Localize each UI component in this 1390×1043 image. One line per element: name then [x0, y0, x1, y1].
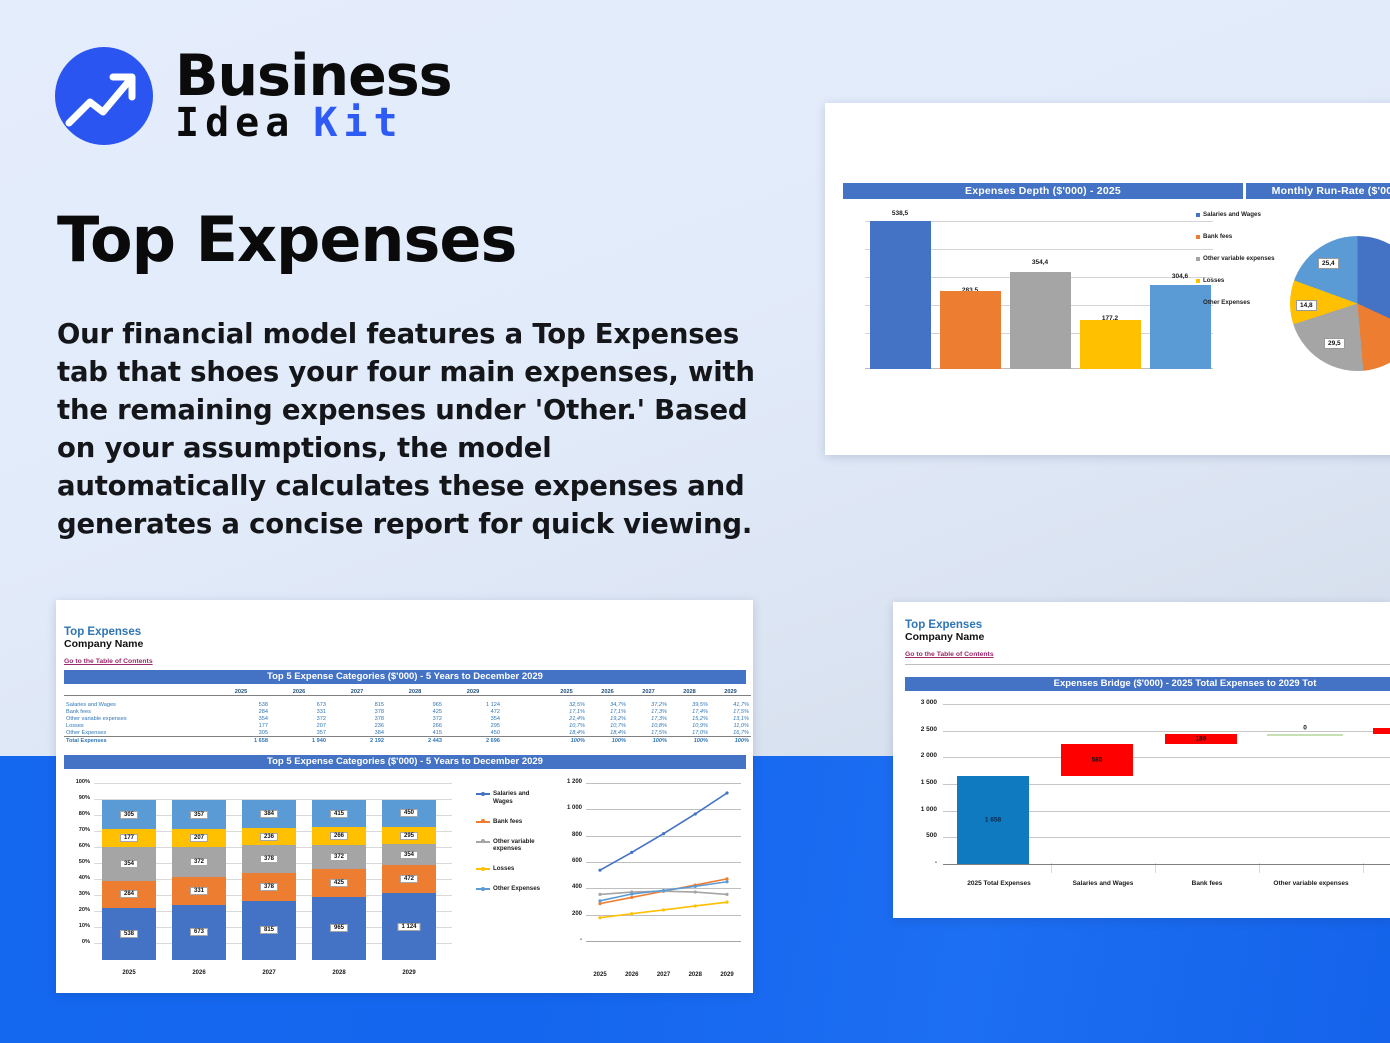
expenses-depth-bar-chart: 538,5 283,5 354,4 177,2 304,6 — [843, 203, 1213, 383]
stack-segment: 295 — [382, 827, 436, 845]
stack-segment: 357 — [172, 800, 226, 829]
gridline — [943, 757, 1390, 758]
stack-segment: 305 — [102, 800, 156, 829]
table-cell-pct: 17,1% — [587, 708, 628, 715]
segment-value-label: 378 — [260, 855, 278, 863]
x-axis-label: 2028 — [680, 972, 710, 978]
segment-value-label: 305 — [120, 811, 138, 819]
page-description: Our financial model features a Top Expen… — [57, 315, 757, 543]
bar-value-label: 585 — [1092, 756, 1103, 763]
legend-item: .llg:nth-child(3) .llg-line::after{backg… — [476, 838, 546, 853]
legend-swatch-icon — [1196, 235, 1200, 239]
table-cell-value: 177 — [212, 722, 270, 729]
expenses-depth-panel: Expenses Depth ($'000) - 2025 Monthly Ru… — [825, 103, 1390, 455]
bar-other-variable-expenses — [1010, 272, 1071, 369]
stack-segment: 177 — [102, 829, 156, 846]
stack-segment: 472 — [382, 865, 436, 893]
stack-segment: 384 — [242, 800, 296, 828]
column-header-year: 2026 — [270, 688, 328, 696]
table-cell-total-pct: 100% — [628, 736, 669, 744]
table-cell-pct: 39,5% — [669, 701, 710, 708]
legend-swatch-icon — [1196, 279, 1200, 283]
table-cell-pct: 18,4% — [587, 729, 628, 736]
pie-value-label: 14,8 — [1296, 300, 1317, 311]
stacked-bar-column: 305177354284538 — [102, 800, 156, 960]
bar-salaries-and-wages — [870, 221, 931, 369]
segment-value-label: 472 — [400, 875, 418, 883]
stack-segment: 284 — [102, 881, 156, 908]
legend-item: .llg:nth-child(2) .llg-line::after{backg… — [476, 818, 546, 826]
table-cell-pct: 19,2% — [587, 715, 628, 722]
table-cell-total: 2 696 — [444, 736, 502, 744]
legend-label: Other Expenses — [1203, 299, 1250, 307]
table-cell-value: 295 — [444, 722, 502, 729]
table-cell-value: 236 — [328, 722, 386, 729]
legend-item: Other Expenses — [1196, 299, 1276, 307]
table-cell-total: 1 940 — [270, 736, 328, 744]
expenses-line-chart: -2004006008001 0001 200 2025202620272028… — [556, 775, 746, 980]
column-header-year-pct: 2029 — [710, 688, 751, 696]
stack-segment: 415 — [312, 800, 366, 827]
segment-value-label: 378 — [260, 883, 278, 891]
stacked-bar-chart: 0%10%20%30%40%50%60%70%80%90%100% 305177… — [66, 775, 471, 980]
legend-label: Other variable expenses — [493, 838, 546, 853]
stack-segment: 354 — [102, 847, 156, 881]
x-axis-label: 2029 — [712, 972, 742, 978]
legend-item: Bank fees — [1196, 233, 1276, 241]
y-axis-tick: 80% — [66, 811, 90, 817]
stack-segment: 331 — [172, 877, 226, 904]
bar-value-label: 189 — [1196, 736, 1207, 743]
expense-categories-table: 2025 2026 2027 2028 2029 2025 2026 2027 … — [64, 688, 746, 744]
stack-segment: 236 — [242, 828, 296, 845]
legend-label: Other Expenses — [493, 885, 540, 893]
chart-title-bar: Top 5 Expense Categories ($'000) - 5 Yea… — [64, 755, 746, 769]
sheet-title: Top Expenses — [64, 626, 153, 638]
x-axis-label: Bank fees — [1155, 880, 1259, 887]
table-cell-value: 354 — [444, 715, 502, 722]
expenses-bridge-panel: Top Expenses Company Name Go to the Tabl… — [893, 602, 1390, 918]
x-axis-label: Losses — [1363, 880, 1390, 887]
y-axis-tick: 60% — [66, 843, 90, 849]
table-cell-total: 2 443 — [386, 736, 444, 744]
segment-value-label: 354 — [400, 851, 418, 859]
table-cell-pct: 34,7% — [587, 701, 628, 708]
table-cell-value: 384 — [328, 729, 386, 736]
table-cell-value: 284 — [212, 708, 270, 715]
stack-segment: 1 124 — [382, 893, 436, 960]
stack-segment: 354 — [382, 844, 436, 865]
gridline — [943, 704, 1390, 705]
table-cell-pct: 17,4% — [669, 708, 710, 715]
waterfall-bar: 1 658 — [957, 776, 1029, 864]
table-cell-value: 965 — [386, 701, 444, 708]
column-header-year: 2028 — [386, 688, 444, 696]
table-cell-pct: 21,4% — [546, 715, 587, 722]
table-cell-pct: 18,4% — [546, 729, 587, 736]
brand-name-primary: Business — [175, 48, 452, 104]
table-cell-pct: 11,0% — [710, 722, 751, 729]
table-cell-pct: 17,0% — [669, 729, 710, 736]
table-cell-total-pct: 100% — [669, 736, 710, 744]
legend-item: Salaries and Wages — [1196, 211, 1276, 219]
table-cell-pct: 13,1% — [710, 715, 751, 722]
y-axis-tick: 100% — [66, 779, 90, 785]
y-axis-tick: 2 500 — [901, 726, 937, 733]
table-cell-pct: 10,7% — [546, 722, 587, 729]
table-cell-pct: 37,2% — [628, 701, 669, 708]
legend-item: .llg:nth-child(5) .llg-line::after{backg… — [476, 885, 546, 893]
bridge-title-bar: Expenses Bridge ($'000) - 2025 Total Exp… — [905, 677, 1390, 691]
table-cell-value: 331 — [270, 708, 328, 715]
legend-label: Other variable expenses — [1203, 255, 1275, 263]
x-axis-label: 2028 — [312, 970, 366, 976]
table-cell-value: 538 — [212, 701, 270, 708]
column-header-year-pct: 2028 — [669, 688, 710, 696]
column-header-year: 2027 — [328, 688, 386, 696]
table-cell-value: 450 — [444, 729, 502, 736]
legend-item: Losses — [1196, 277, 1276, 285]
waterfall-bar: 585 — [1061, 744, 1133, 775]
segment-value-label: 384 — [260, 810, 278, 818]
table-cell-value: 472 — [444, 708, 502, 715]
sheet-title: Top Expenses — [905, 619, 994, 631]
table-cell-value: 415 — [386, 729, 444, 736]
page-title: Top Expenses — [57, 205, 516, 275]
monthly-run-rate-title: Monthly Run-Rate ($'000 — [1246, 183, 1390, 199]
x-axis-label: 2026 — [617, 972, 647, 978]
trending-up-arrow-icon — [55, 47, 153, 145]
stack-segment: 673 — [172, 905, 226, 961]
table-cell-pct: 32,5% — [546, 701, 587, 708]
table-cell-value: 207 — [270, 722, 328, 729]
bar-losses — [1080, 320, 1141, 369]
bar-bank-fees — [940, 291, 1001, 369]
table-row: Salaries and Wages5386738159651 12432,5%… — [64, 701, 746, 708]
segment-value-label: 415 — [330, 810, 348, 818]
stacked-bar-column: 357207372331673 — [172, 800, 226, 960]
table-row: Bank fees28433137842547217,1%17,1%17,3%1… — [64, 708, 746, 715]
bar-value-label: 538,5 — [865, 210, 935, 217]
brand-logo: Business Idea Kit — [55, 47, 452, 145]
stacked-bar-column: 4502953544721 124 — [382, 800, 436, 960]
segment-value-label: 236 — [260, 833, 278, 841]
table-cell-total: 1 658 — [212, 736, 270, 744]
table-cell-value: 354 — [212, 715, 270, 722]
table-cell-value: 372 — [386, 715, 444, 722]
legend-line-icon: .llg:nth-child(1) .llg-line::after{backg… — [476, 793, 490, 795]
expenses-depth-title: Expenses Depth ($'000) - 2025 — [843, 183, 1243, 199]
segment-value-label: 177 — [120, 834, 138, 842]
table-cell-pct: 17,1% — [546, 708, 587, 715]
table-cell-value: 266 — [386, 722, 444, 729]
legend-line-icon: .llg:nth-child(4) .llg-line::after{backg… — [476, 868, 490, 870]
y-axis-tick: 30% — [66, 891, 90, 897]
table-header-row: 2025 2026 2027 2028 2029 2025 2026 2027 … — [64, 688, 746, 696]
waterfall-bar: 1 — [1373, 728, 1390, 734]
table-cell-value: 378 — [328, 715, 386, 722]
table-cell-value: 425 — [386, 708, 444, 715]
segment-value-label: 207 — [190, 834, 208, 842]
table-cell-value: 372 — [270, 715, 328, 722]
table-cell-total-pct: 100% — [587, 736, 628, 744]
pie-value-label: 25,4 — [1318, 258, 1339, 269]
table-total-row: Total Expenses1 6581 9402 1922 4432 6961… — [64, 736, 746, 744]
table-cell-total: 2 192 — [328, 736, 386, 744]
expenses-bridge-waterfall-chart: -5001 0001 5002 0002 5003 0001 6582025 T… — [901, 698, 1390, 903]
stacked-bar-column: 384236378378815 — [242, 800, 296, 960]
segment-value-label: 354 — [120, 860, 138, 868]
table-cell-pct: 16,7% — [710, 729, 751, 736]
segment-value-label: 284 — [120, 890, 138, 898]
table-cell-pct: 15,2% — [669, 715, 710, 722]
y-axis-tick: 20% — [66, 907, 90, 913]
table-row: Other Expenses30535738441545018,4%18,4%1… — [64, 729, 746, 736]
row-label: Total Expenses — [64, 736, 212, 744]
row-label: Other variable expenses — [64, 715, 212, 722]
x-axis-label: 2026 — [172, 970, 226, 976]
waterfall-bar: 0 — [1267, 734, 1343, 736]
segment-value-label: 331 — [190, 887, 208, 895]
segment-value-label: 372 — [190, 858, 208, 866]
segment-value-label: 965 — [330, 924, 348, 932]
y-axis-tick: 70% — [66, 827, 90, 833]
table-cell-pct: 10,7% — [587, 722, 628, 729]
row-label: Bank fees — [64, 708, 212, 715]
table-cell-value: 1 124 — [444, 701, 502, 708]
bar-value-label: 354,4 — [1005, 259, 1075, 266]
y-axis-tick: 3 000 — [901, 699, 937, 706]
table-cell-value: 815 — [328, 701, 386, 708]
table-cell-pct: 17,3% — [628, 708, 669, 715]
legend-label: Salaries and Wages — [1203, 211, 1261, 219]
table-cell-value: 357 — [270, 729, 328, 736]
table-cell-total-pct: 100% — [546, 736, 587, 744]
table-cell-pct: 10,8% — [628, 722, 669, 729]
table-cell-pct: 10,9% — [669, 722, 710, 729]
table-row: Other variable expenses35437237837235421… — [64, 715, 746, 722]
table-cell-value: 673 — [270, 701, 328, 708]
segment-value-label: 295 — [400, 832, 418, 840]
stack-segment: 538 — [102, 908, 156, 960]
column-header-year: 2029 — [444, 688, 502, 696]
segment-value-label: 372 — [330, 853, 348, 861]
legend-label: Salaries and Wages — [493, 790, 546, 805]
legend-swatch-icon — [1196, 257, 1200, 261]
row-label: Salaries and Wages — [64, 701, 212, 708]
segment-value-label: 673 — [190, 928, 208, 936]
x-axis-label: 2027 — [649, 972, 679, 978]
x-axis-label: 2027 — [242, 970, 296, 976]
table-row: Losses17720723626629510,7%10,7%10,8%10,9… — [64, 722, 746, 729]
stack-segment: 372 — [172, 847, 226, 878]
legend-line-icon: .llg:nth-child(2) .llg-line::after{backg… — [476, 821, 490, 823]
company-name: Company Name — [905, 631, 994, 643]
divider — [905, 664, 1390, 665]
table-cell-pct: 17,5% — [710, 708, 751, 715]
waterfall-bar: 189 — [1165, 734, 1237, 744]
legend-item: .llg:nth-child(4) .llg-line::after{backg… — [476, 865, 546, 873]
pie-value-label: 29,5 — [1324, 338, 1345, 349]
gridline — [94, 783, 452, 784]
y-axis-tick: 50% — [66, 859, 90, 865]
sheet-header: Top Expenses Company Name Go to the Tabl… — [64, 626, 153, 668]
y-axis-tick: 40% — [66, 875, 90, 881]
y-axis-tick: - — [901, 859, 937, 866]
column-header-year-pct: 2025 — [546, 688, 587, 696]
y-axis-tick: 90% — [66, 795, 90, 801]
stack-segment: 372 — [312, 845, 366, 869]
axis-line — [943, 864, 1390, 865]
segment-value-label: 450 — [400, 809, 418, 817]
x-axis-label: Salaries and Wages — [1051, 880, 1155, 887]
stack-segment: 425 — [312, 869, 366, 897]
column-header-year: 2025 — [212, 688, 270, 696]
row-label: Other Expenses — [64, 729, 212, 736]
segment-value-label: 538 — [120, 930, 138, 938]
y-axis-tick: 0% — [66, 939, 90, 945]
legend-label: Bank fees — [493, 818, 522, 826]
legend-label: Bank fees — [1203, 233, 1232, 241]
stack-segment: 378 — [242, 873, 296, 901]
y-axis-tick: 1 000 — [901, 806, 937, 813]
x-axis-label: 2025 Total Expenses — [947, 880, 1051, 887]
monthly-run-rate-pie-chart: 25,4 14,8 29,5 — [1280, 228, 1390, 383]
y-axis-tick: 500 — [901, 832, 937, 839]
column-header-year-pct: 2027 — [628, 688, 669, 696]
table-cell-pct: 17,3% — [628, 715, 669, 722]
table-cell-pct: 41,7% — [710, 701, 751, 708]
y-axis-tick: 10% — [66, 923, 90, 929]
legend-line-icon: .llg:nth-child(3) .llg-line::after{backg… — [476, 841, 490, 843]
table-of-contents-link[interactable]: Go to the Table of Contents — [905, 651, 994, 658]
segment-value-label: 266 — [330, 832, 348, 840]
stack-segment: 266 — [312, 827, 366, 844]
column-header-year-pct: 2026 — [587, 688, 628, 696]
legend-swatch-icon — [1196, 213, 1200, 217]
legend-line-icon: .llg:nth-child(5) .llg-line::after{backg… — [476, 888, 490, 890]
legend-label: Losses — [493, 865, 514, 873]
stack-segment: 450 — [382, 800, 436, 827]
gridline — [943, 731, 1390, 732]
line-chart-legend: .llg:nth-child(1) .llg-line::after{backg… — [476, 790, 546, 905]
expenses-depth-legend: Salaries and Wages Bank fees Other varia… — [1196, 211, 1276, 321]
table-cell-pct: 17,5% — [628, 729, 669, 736]
x-axis-label: 2025 — [585, 972, 615, 978]
company-name: Company Name — [64, 638, 153, 650]
y-axis-tick: 1 500 — [901, 779, 937, 786]
legend-label: Losses — [1203, 277, 1224, 285]
segment-value-label: 815 — [260, 926, 278, 934]
table-cell-value: 305 — [212, 729, 270, 736]
table-cell-value: 378 — [328, 708, 386, 715]
table-title-bar: Top 5 Expense Categories ($'000) - 5 Yea… — [64, 670, 746, 684]
legend-item: Other variable expenses — [1196, 255, 1276, 263]
stack-segment: 965 — [312, 897, 366, 960]
row-label: Losses — [64, 722, 212, 729]
chart-title-bar-row: Expenses Depth ($'000) - 2025 Monthly Ru… — [843, 183, 1390, 199]
legend-swatch-icon — [1196, 301, 1200, 305]
segment-value-label: 1 124 — [397, 923, 420, 931]
stack-segment: 815 — [242, 901, 296, 961]
stack-segment: 378 — [242, 845, 296, 873]
segment-value-label: 357 — [190, 811, 208, 819]
legend-item: .llg:nth-child(1) .llg-line::after{backg… — [476, 790, 546, 805]
y-axis-tick: 2 000 — [901, 752, 937, 759]
x-axis-label: Other variable expenses — [1259, 880, 1363, 887]
bar-value-label: 0 — [1303, 725, 1307, 732]
x-axis-label: 2029 — [382, 970, 436, 976]
stacked-bar-column: 415266372425965 — [312, 800, 366, 960]
table-cell-total-pct: 100% — [710, 736, 751, 744]
sheet-header: Top Expenses Company Name Go to the Tabl… — [905, 619, 994, 661]
table-of-contents-link[interactable]: Go to the Table of Contents — [64, 658, 153, 665]
top-expenses-sheet-panel: Top Expenses Company Name Go to the Tabl… — [56, 600, 753, 993]
x-axis-label: 2025 — [102, 970, 156, 976]
segment-value-label: 425 — [330, 879, 348, 887]
bar-value-label: 1 658 — [985, 816, 1001, 823]
stack-segment: 207 — [172, 829, 226, 846]
